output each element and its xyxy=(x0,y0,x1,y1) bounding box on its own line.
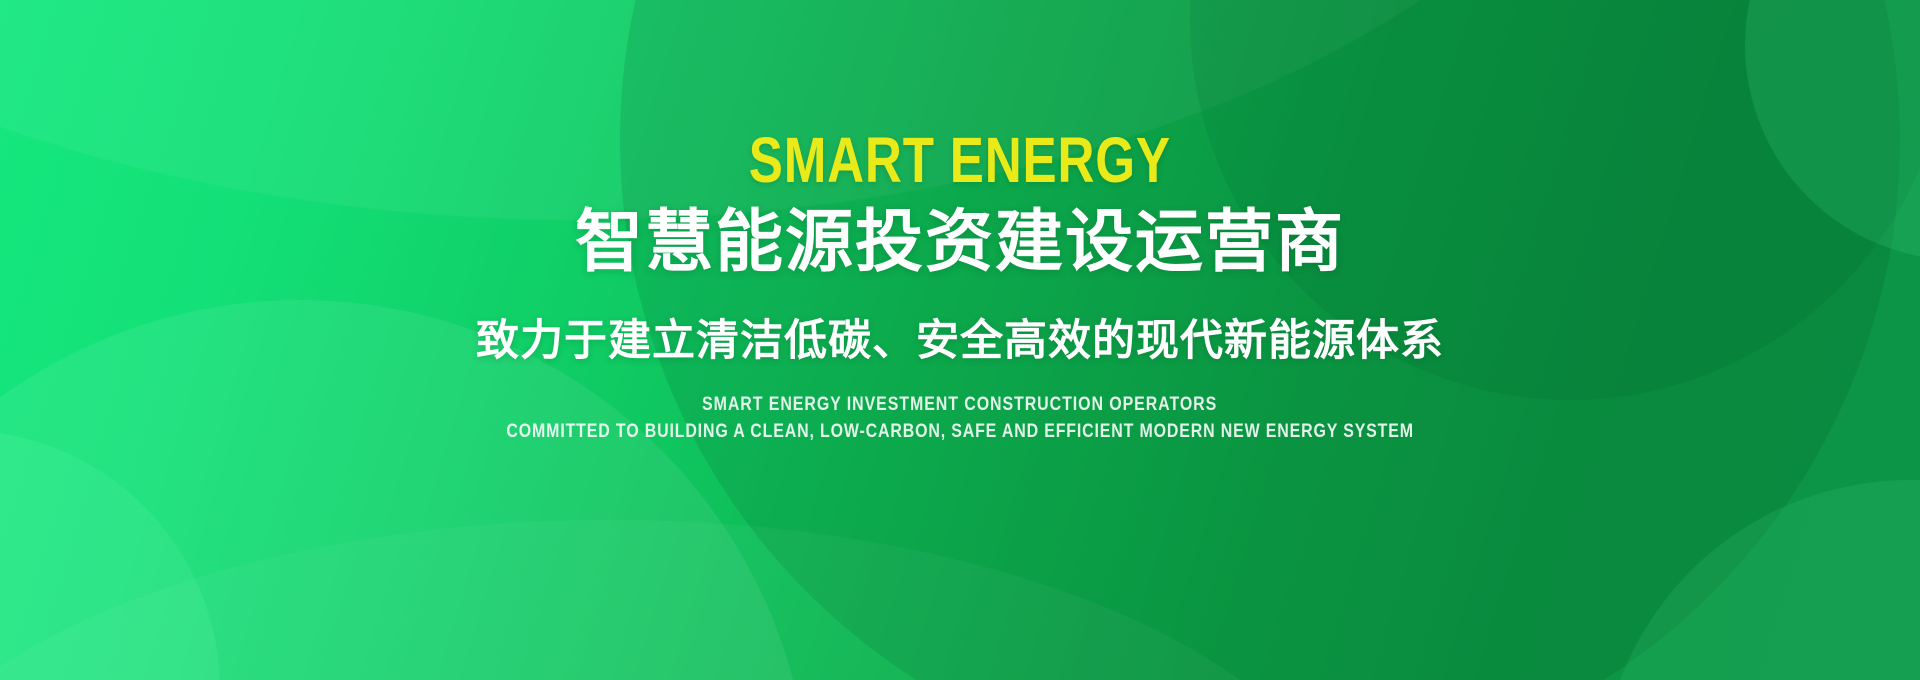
banner-subtitle-english-line2: COMMITTED TO BUILDING A CLEAN, LOW-CARBO… xyxy=(506,421,1413,443)
banner-subtitle-chinese: 致力于建立清洁低碳、安全高效的现代新能源体系 xyxy=(476,316,1444,368)
banner-subtitle-english-line1: SMART ENERGY INVESTMENT CONSTRUCTION OPE… xyxy=(702,394,1217,416)
banner-subtitle-english-group: SMART ENERGY INVESTMENT CONSTRUCTION OPE… xyxy=(420,394,1500,443)
banner-title-english: SMART ENERGY xyxy=(749,128,1171,192)
banner-title-chinese: 智慧能源投资建设运营商 xyxy=(575,204,1345,280)
hero-banner: SMART ENERGY 智慧能源投资建设运营商 致力于建立清洁低碳、安全高效的… xyxy=(0,0,1920,680)
banner-content: SMART ENERGY 智慧能源投资建设运营商 致力于建立清洁低碳、安全高效的… xyxy=(0,0,1920,680)
